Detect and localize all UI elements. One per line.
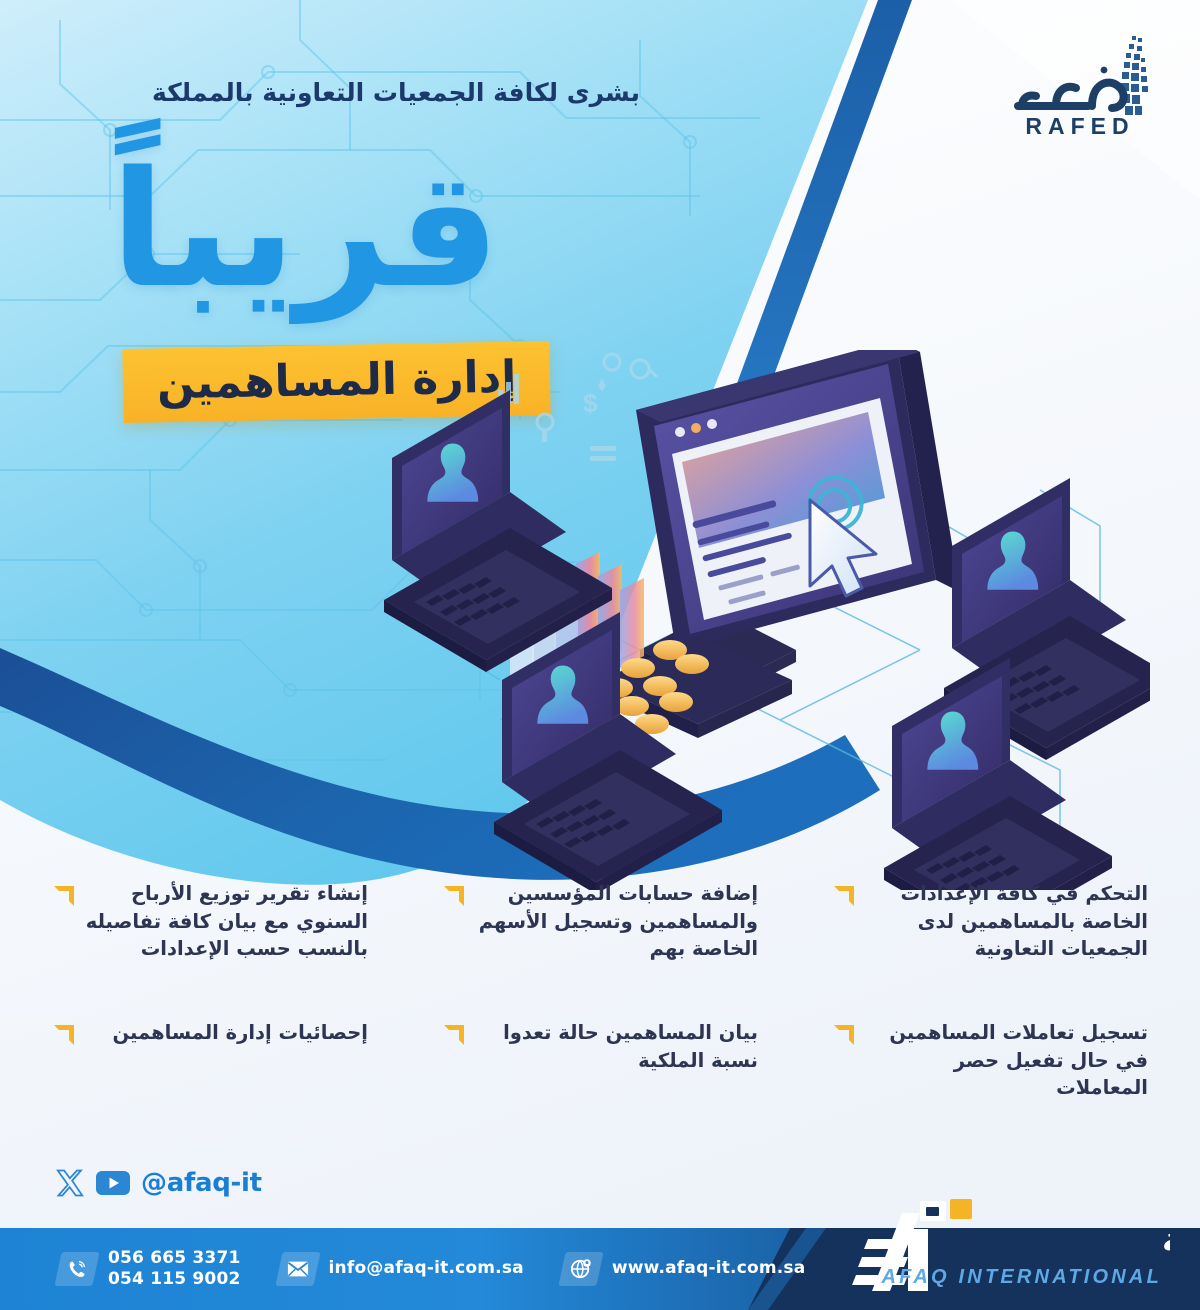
afaq-logo: آفاق العالمية AFAQ INTERNATIONAL bbox=[850, 1195, 1170, 1300]
phone-number-2: 054 115 9002 bbox=[108, 1269, 241, 1290]
corner-bracket-icon bbox=[442, 884, 466, 908]
feature-text: إحصائيات إدارة المساهمين bbox=[84, 1019, 368, 1047]
svg-text:$: $ bbox=[583, 388, 598, 418]
feature-item: إضافة حسابات المؤسسين والمساهمين وتسجيل … bbox=[442, 880, 758, 963]
social-row: @afaq-it bbox=[55, 1168, 262, 1198]
hero-soon-title: قريباً bbox=[110, 150, 500, 310]
floating-icons: $ bbox=[498, 354, 657, 461]
page-tagline: بشرى لكافة الجمعيات التعاونية بالمملكة bbox=[152, 78, 640, 107]
phone-icon bbox=[54, 1252, 99, 1286]
features-section: التحكم في كافة الإعدادات الخاصة بالمساهم… bbox=[0, 880, 1200, 1102]
corner-bracket-icon bbox=[442, 1023, 466, 1047]
globe-pin-icon bbox=[558, 1252, 603, 1286]
corner-bracket-icon bbox=[832, 884, 856, 908]
features-row-1: التحكم في كافة الإعدادات الخاصة بالمساهم… bbox=[52, 880, 1148, 963]
rafed-logo: RAFED bbox=[992, 28, 1172, 148]
email-address: info@afaq-it.com.sa bbox=[329, 1258, 524, 1279]
youtube-icon[interactable] bbox=[96, 1170, 130, 1196]
feature-text: بيان المساهمين حالة تعدوا نسبة الملكية bbox=[474, 1019, 758, 1074]
corner-bracket-icon bbox=[52, 1023, 76, 1047]
feature-item: تسجيل تعاملات المساهمين في حال تفعيل حصر… bbox=[832, 1019, 1148, 1102]
feature-item: إنشاء تقرير توزيع الأرباح السنوي مع بيان… bbox=[52, 880, 368, 963]
contact-list: 056 665 3371 054 115 9002 info@afaq-it.c… bbox=[0, 1248, 805, 1291]
isometric-illustration: $ bbox=[340, 350, 1150, 890]
phone-number-1: 056 665 3371 bbox=[108, 1248, 241, 1269]
contact-website[interactable]: www.afaq-it.com.sa bbox=[562, 1252, 806, 1286]
website-url: www.afaq-it.com.sa bbox=[612, 1258, 806, 1279]
feature-text: إنشاء تقرير توزيع الأرباح السنوي مع بيان… bbox=[84, 880, 368, 963]
feature-text: التحكم في كافة الإعدادات الخاصة بالمساهم… bbox=[864, 880, 1148, 963]
corner-bracket-icon bbox=[832, 1023, 856, 1047]
social-handle[interactable]: @afaq-it bbox=[141, 1168, 262, 1198]
contact-phone[interactable]: 056 665 3371 054 115 9002 bbox=[58, 1248, 241, 1291]
rafed-latin-label: RAFED bbox=[1025, 113, 1134, 139]
feature-text: إضافة حسابات المؤسسين والمساهمين وتسجيل … bbox=[474, 880, 758, 963]
x-twitter-icon[interactable] bbox=[55, 1168, 85, 1198]
feature-text: تسجيل تعاملات المساهمين في حال تفعيل حصر… bbox=[864, 1019, 1148, 1102]
afaq-latin-label: AFAQ INTERNATIONAL bbox=[880, 1266, 1162, 1288]
feature-item: بيان المساهمين حالة تعدوا نسبة الملكية bbox=[442, 1019, 758, 1102]
feature-item: التحكم في كافة الإعدادات الخاصة بالمساهم… bbox=[832, 880, 1148, 963]
rafed-arabic-wordmark bbox=[1018, 83, 1124, 108]
phone-numbers: 056 665 3371 054 115 9002 bbox=[108, 1248, 241, 1291]
afaq-arabic-label: آفاق العالمية bbox=[1162, 1219, 1170, 1259]
feature-item: إحصائيات إدارة المساهمين bbox=[52, 1019, 368, 1102]
contact-email[interactable]: info@afaq-it.com.sa bbox=[279, 1252, 524, 1286]
footer-bar: 056 665 3371 054 115 9002 info@afaq-it.c… bbox=[0, 1228, 1200, 1310]
corner-bracket-icon bbox=[52, 884, 76, 908]
features-row-2: تسجيل تعاملات المساهمين في حال تفعيل حصر… bbox=[52, 1019, 1148, 1102]
envelope-icon bbox=[275, 1252, 320, 1286]
poster-root: بشرى لكافة الجمعيات التعاونية بالمملكة bbox=[0, 0, 1200, 1310]
